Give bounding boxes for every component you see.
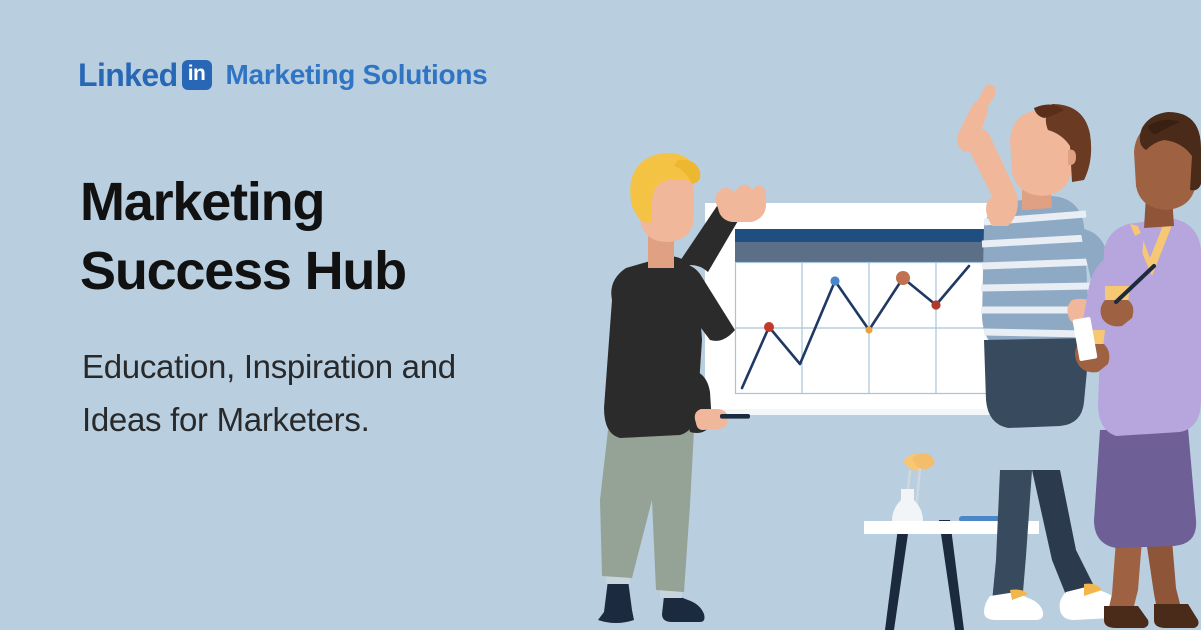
chart-marker-1 [764,322,774,332]
page-subtitle: Education, Inspiration and Ideas for Mar… [82,340,456,447]
chart-marker-5 [931,300,940,309]
linkedin-marketing-solutions-logo[interactable]: Linked in Marketing Solutions [78,55,487,95]
subhead-line-1: Education, Inspiration and [82,340,456,393]
chart-header-bar [735,229,1003,242]
person-taking-notes [1072,112,1201,628]
headline-line-2: Success Hub [80,237,406,306]
linkedin-wordmark: Linked [78,59,178,91]
chart [735,229,1003,394]
page-title: Marketing Success Hub [80,168,406,306]
headline-line-1: Marketing [80,168,406,237]
subhead-line-2: Ideas for Marketers. [82,393,456,446]
marker-pen [720,414,750,419]
chart-subheader-bar [735,242,1003,262]
chart-marker-3 [865,326,872,333]
hero-banner: Linked in Marketing Solutions Marketing … [0,0,1201,630]
chart-marker-4 [896,271,910,285]
linkedin-in-badge-icon: in [182,60,212,90]
chart-marker-2 [830,276,839,285]
marketing-solutions-label: Marketing Solutions [226,61,488,89]
hero-illustration [560,0,1201,630]
